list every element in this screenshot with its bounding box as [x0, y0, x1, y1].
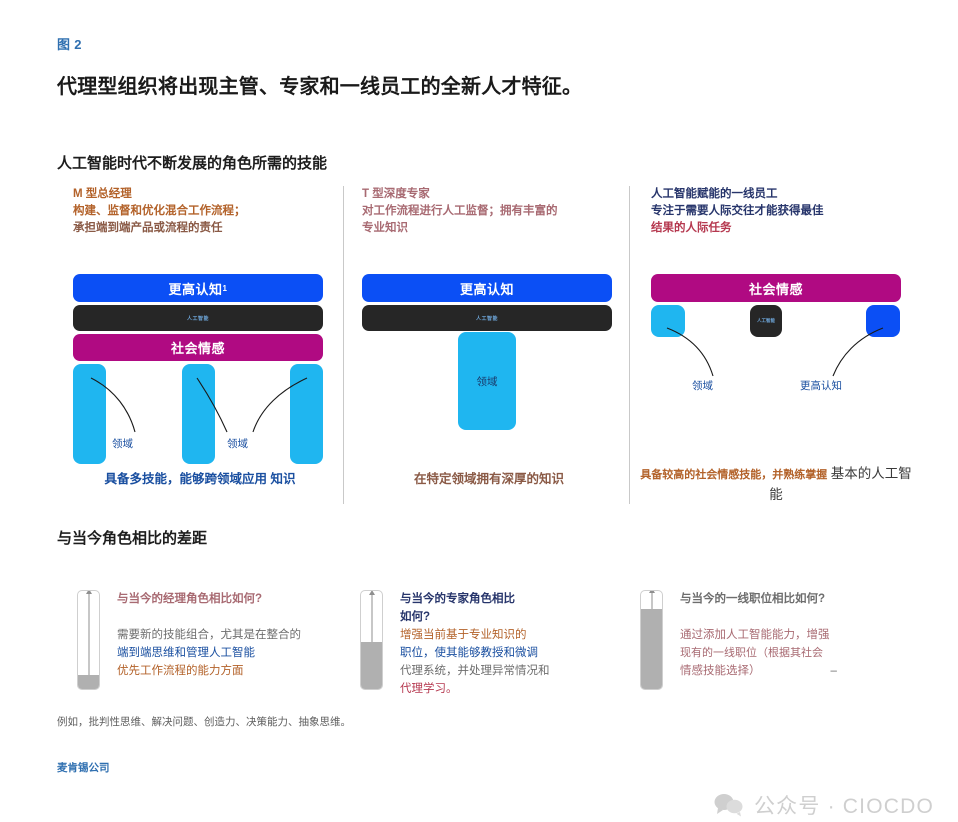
gap-gauge-1-arrow: [88, 593, 89, 675]
column-1-caption-line-1: 具备多技能，能够跨领域应用: [104, 472, 267, 486]
column-3-caption: 具备较高的社会情感技能，并熟练掌握 基本的人工智能: [635, 464, 917, 505]
bar-higher-cognition-1: 更高认知1: [73, 274, 323, 302]
column-2-caption-line-1: 在特定领域拥有深厚的知识: [414, 472, 564, 486]
bar-higher-cognition-2-label: 更高认知: [460, 279, 514, 298]
bar-social-emotional-1-label: 社会情感: [171, 338, 225, 357]
gap-gauge-3-arrowhead: [649, 590, 655, 593]
skills-columns: M 型总经理 构建、监督和优化混合工作流程； 承担端到端产品或流程的责任 更高认…: [57, 186, 917, 506]
domain-label-3a: 领域: [692, 378, 713, 393]
column-3-heading-line-1: 人工智能赋能的一线员工: [651, 186, 917, 203]
column-m-shaped-gm: M 型总经理 构建、监督和优化混合工作流程； 承担端到端产品或流程的责任 更高认…: [57, 186, 339, 506]
gap-1-question-line-1: 与当今的经理角色相比如何?: [117, 590, 375, 608]
footnote-marker: 1: [223, 284, 228, 293]
column-2-caption: 在特定领域拥有深厚的知识: [354, 470, 624, 489]
column-1-caption-line-2: 知识: [270, 472, 295, 486]
gap-gauge-2-arrow: [371, 594, 372, 642]
column-1-heading: M 型总经理 构建、监督和优化混合工作流程； 承担端到端产品或流程的责任: [57, 186, 339, 237]
gap-2-body-line-3: 代理系统，并处理异常情况和: [400, 662, 658, 680]
gap-gauge-3: [640, 590, 663, 690]
gap-1-spacer: [117, 608, 375, 626]
column-2-heading-line-1: T 型深度专家: [362, 186, 628, 203]
column-1-heading-line-1: M 型总经理: [73, 186, 339, 203]
gap-section-title: 与当今角色相比的差距: [57, 527, 207, 548]
wechat-icon: [714, 793, 744, 817]
watermark-text: 公众号 · CIOCDO: [754, 790, 934, 820]
gap-gauge-2-fill: [361, 642, 382, 689]
bar-ai-2: 人工智能: [362, 305, 612, 331]
column-3-caption-line-1: 具备较高的社会情感技能，并熟练掌握: [640, 469, 827, 481]
gap-2-text: 与当今的专家角色相比 如何? 增强当前基于专业知识的 职位，使其能够教授和微调 …: [400, 590, 658, 698]
pillar-domain-2: 领域: [458, 332, 516, 430]
gap-3-body-line-3-text: 情感技能选择）: [680, 665, 761, 677]
figure-label: 图 2: [57, 34, 82, 53]
column-3-heading-line-3: 结果的人际任务: [651, 220, 917, 237]
gap-3-dash: –: [761, 665, 837, 677]
figure-headline: 代理型组织将出现主管、专家和一线员工的全新人才特征。: [57, 70, 917, 99]
gap-3-body-line-1: 通过添加人工智能能力，增强: [680, 626, 938, 644]
domain-connector-lines-1: [57, 356, 339, 466]
brand-mckinsey: 麦肯锡公司: [57, 760, 110, 775]
bar-ai-1: 人工智能: [73, 305, 323, 331]
column-3-heading: 人工智能赋能的一线员工 专注于需要人际交往才能获得最佳 结果的人际任务: [635, 186, 917, 237]
column-1-heading-line-2: 构建、监督和优化混合工作流程；: [73, 203, 339, 220]
column-divider-2: [629, 186, 630, 504]
gap-2-question-line-2: 如何?: [400, 608, 658, 626]
gap-3-body-line-3: 情感技能选择）–: [680, 662, 938, 680]
domain-label-1a: 领域: [112, 436, 133, 451]
gap-3-body-line-2: 现有的一线职位（根据其社会: [680, 644, 938, 662]
bar-social-emotional-3-label: 社会情感: [749, 279, 803, 298]
column-divider-1: [343, 186, 344, 504]
gap-2-body-line-2: 职位，使其能够教授和微调: [400, 644, 658, 662]
gap-2-question-line-1: 与当今的专家角色相比: [400, 590, 658, 608]
column-t-shaped-expert: T 型深度专家 对工作流程进行人工监督；拥有丰富的 专业知识 更高认知 人工智能…: [346, 186, 628, 506]
column-2-heading-line-2: 对工作流程进行人工监督；拥有丰富的: [362, 203, 628, 220]
gap-gauge-3-fill: [641, 609, 662, 689]
gap-gauge-2-arrowhead: [369, 590, 375, 595]
gap-gauge-2: [360, 590, 383, 690]
gap-1-body-line-1: 需要新的技能组合，尤其是在整合的: [117, 626, 375, 644]
column-2-heading: T 型深度专家 对工作流程进行人工监督；拥有丰富的 专业知识: [346, 186, 628, 237]
bar-social-emotional-3: 社会情感: [651, 274, 901, 302]
bar-ai-2-label: 人工智能: [476, 315, 498, 322]
gap-1-body-line-2: 端到端思维和管理人工智能: [117, 644, 375, 662]
column-3-heading-line-2: 专注于需要人际交往才能获得最佳: [651, 203, 917, 220]
gap-columns: 与当今的经理角色相比如何? 需要新的技能组合，尤其是在整合的 端到端思维和管理人…: [57, 560, 937, 695]
domain-label-2: 领域: [477, 374, 498, 389]
gap-1-body-line-3: 优先工作流程的能力方面: [117, 662, 375, 680]
figure-page: 图 2 代理型组织将出现主管、专家和一线员工的全新人才特征。 人工智能时代不断发…: [0, 0, 958, 822]
column-1-heading-line-3: 承担端到端产品或流程的责任: [73, 220, 339, 237]
domain-label-3b: 更高认知: [800, 378, 842, 393]
gap-3-spacer: [680, 608, 938, 626]
bar-higher-cognition-2: 更高认知: [362, 274, 612, 302]
bar-higher-cognition-1-label: 更高认知: [169, 279, 223, 298]
gap-2-body-line-1: 增强当前基于专业知识的: [400, 626, 658, 644]
domain-connector-lines-3: [635, 316, 917, 406]
column-ai-enabled-frontline: 人工智能赋能的一线员工 专注于需要人际交往才能获得最佳 结果的人际任务 社会情感…: [635, 186, 917, 506]
column-2-heading-line-3: 专业知识: [362, 220, 628, 237]
gap-gauge-3-arrow: [651, 592, 652, 609]
gap-2-body-line-4: 代理学习。: [400, 680, 658, 698]
gap-3-question-line-1: 与当今的一线职位相比如何?: [680, 590, 938, 608]
domain-label-1b: 领域: [227, 436, 248, 451]
gap-gauge-1-arrowhead: [86, 590, 92, 594]
gap-gauge-1-fill: [78, 675, 99, 689]
watermark: 公众号 · CIOCDO: [714, 790, 934, 820]
column-1-caption: 具备多技能，能够跨领域应用 知识: [65, 470, 335, 489]
gap-3-text: 与当今的一线职位相比如何? 通过添加人工智能能力，增强 现有的一线职位（根据其社…: [680, 590, 938, 680]
bar-ai-1-label: 人工智能: [187, 315, 209, 322]
gap-gauge-1: [77, 590, 100, 690]
footnote: 例如，批判性思维、解决问题、创造力、决策能力、抽象思维。: [57, 714, 351, 729]
gap-1-text: 与当今的经理角色相比如何? 需要新的技能组合，尤其是在整合的 端到端思维和管理人…: [117, 590, 375, 680]
skills-section-title: 人工智能时代不断发展的角色所需的技能: [57, 152, 327, 173]
